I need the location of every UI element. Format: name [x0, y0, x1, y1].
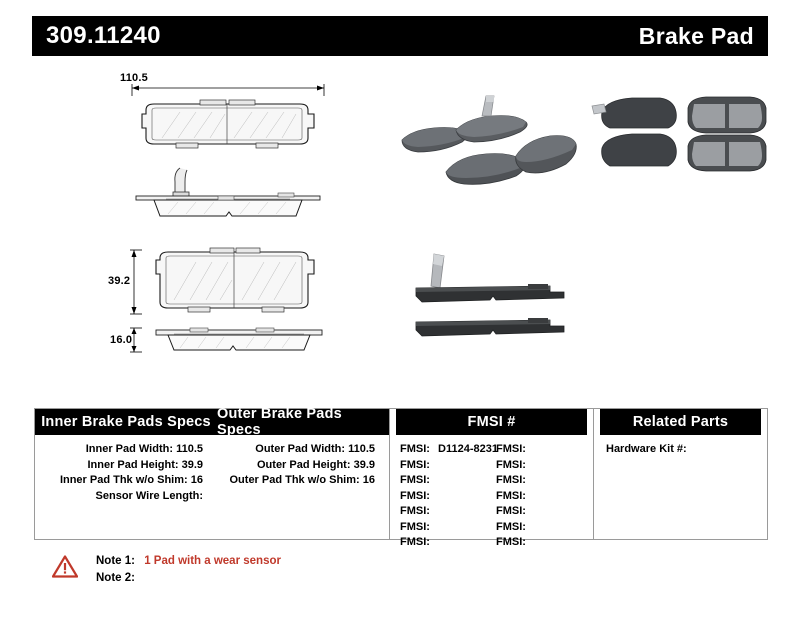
spec-label: Sensor Wire Length:	[96, 490, 203, 502]
fmsi-value	[526, 474, 531, 486]
fmsi-value: D1124-8231	[433, 443, 498, 455]
related-part-row: Hardware Kit #:	[606, 442, 767, 458]
spec-row: Outer Pad Height: 39.9	[217, 458, 389, 474]
brake-pad-pair-side-photo	[400, 246, 580, 356]
specifications-table: Inner Brake Pads Specs Inner Pad Width: …	[34, 408, 768, 540]
column-header-outer-specs: Outer Brake Pads Specs	[217, 409, 389, 435]
product-type-label: Brake Pad	[639, 23, 754, 50]
fmsi-row: FMSI:	[496, 504, 592, 520]
fmsi-value	[526, 521, 531, 533]
fmsi-value	[430, 505, 435, 517]
fmsi-row: FMSI:	[400, 458, 496, 474]
fmsi-row: FMSI:	[400, 504, 496, 520]
note-row: Note 1: 1 Pad with a wear sensor	[96, 553, 472, 570]
outer-specs-body: Outer Pad Width: 110.5 Outer Pad Height:…	[217, 435, 389, 489]
note-text	[135, 572, 141, 584]
fmsi-value	[526, 536, 531, 548]
fmsi-row: FMSI:	[496, 520, 592, 536]
brake-pad-face-view-drawing	[128, 80, 328, 160]
fmsi-label: FMSI:	[400, 474, 430, 486]
fmsi-value	[526, 459, 531, 471]
dimension-label-height: 39.2	[108, 275, 130, 287]
spec-value: 110.5	[348, 443, 375, 455]
note-row: Note 2:	[96, 570, 472, 587]
fmsi-label: FMSI:	[496, 490, 526, 502]
fmsi-row: FMSI:	[400, 489, 496, 505]
fmsi-value	[526, 443, 531, 455]
spec-value: 16	[363, 474, 375, 486]
spec-value: 16	[191, 474, 203, 486]
fmsi-sub-column-left: FMSI: D1124-8231 FMSI: FMSI: FMSI: FMSI:	[400, 442, 496, 551]
column-outer-specs: Outer Brake Pads Specs Outer Pad Width: …	[217, 409, 389, 539]
column-fmsi: FMSI # FMSI: D1124-8231 FMSI: FMSI: FMSI…	[389, 409, 593, 539]
spec-row: Inner Pad Width: 110.5	[35, 442, 217, 458]
fmsi-row: FMSI:	[496, 489, 592, 505]
spec-value: 39.9	[354, 459, 375, 471]
spec-label: Outer Pad Width:	[255, 443, 345, 455]
fmsi-row: FMSI:	[496, 442, 592, 458]
fmsi-row: FMSI:	[400, 520, 496, 536]
spec-row: Outer Pad Thk w/o Shim: 16	[217, 473, 389, 489]
inner-specs-body: Inner Pad Width: 110.5 Inner Pad Height:…	[35, 435, 217, 504]
fmsi-label: FMSI:	[400, 505, 430, 517]
fmsi-label: FMSI:	[496, 536, 526, 548]
related-parts-body: Hardware Kit #:	[594, 435, 767, 458]
brake-pad-set-top-photo	[584, 90, 774, 190]
spec-row: Inner Pad Height: 39.9	[35, 458, 217, 474]
brake-pad-side-view-with-sensor-drawing	[128, 166, 328, 222]
fmsi-row: FMSI:	[496, 535, 592, 551]
fmsi-row: FMSI:	[496, 458, 592, 474]
fmsi-value	[430, 521, 435, 533]
figures-region: 110.5 39.2 16.0	[32, 62, 768, 392]
spec-label: Inner Pad Thk w/o Shim:	[60, 474, 188, 486]
brake-pad-edge-view-drawing	[128, 320, 328, 360]
column-header-inner-specs: Inner Brake Pads Specs	[35, 409, 217, 435]
column-related-parts: Related Parts Hardware Kit #:	[593, 409, 767, 539]
brake-pad-set-angled-photo	[390, 92, 580, 188]
spec-label: Inner Pad Width:	[86, 443, 173, 455]
spec-label: Outer Pad Thk w/o Shim:	[230, 474, 360, 486]
related-part-label: Hardware Kit #:	[606, 443, 687, 455]
column-inner-specs: Inner Brake Pads Specs Inner Pad Width: …	[35, 409, 217, 539]
spec-value: 39.9	[182, 459, 203, 471]
fmsi-label: FMSI:	[496, 443, 526, 455]
spec-row: Inner Pad Thk w/o Shim: 16	[35, 473, 217, 489]
fmsi-value	[430, 474, 435, 486]
fmsi-value	[430, 536, 435, 548]
spec-label: Outer Pad Height:	[257, 459, 351, 471]
fmsi-value	[526, 490, 531, 502]
note-label: Note 2:	[96, 572, 135, 584]
fmsi-label: FMSI:	[400, 521, 430, 533]
column-header-related-parts: Related Parts	[600, 409, 761, 435]
notes-section: Note 1: 1 Pad with a wear sensor Note 2:	[52, 553, 472, 587]
note-rows: Note 1: 1 Pad with a wear sensor Note 2:	[96, 553, 472, 587]
fmsi-label: FMSI:	[400, 536, 430, 548]
fmsi-label: FMSI:	[400, 490, 430, 502]
fmsi-label: FMSI:	[400, 443, 430, 455]
spec-label: Inner Pad Height:	[87, 459, 178, 471]
column-header-fmsi: FMSI #	[396, 409, 587, 435]
fmsi-row: FMSI:	[400, 473, 496, 489]
brake-pad-face-view-drawing-2	[128, 244, 328, 324]
fmsi-label: FMSI:	[496, 474, 526, 486]
spec-row: Sensor Wire Length:	[35, 489, 217, 505]
spec-value: 110.5	[176, 443, 203, 455]
fmsi-sub-column-right: FMSI: FMSI: FMSI: FMSI: FMSI:	[496, 442, 592, 551]
fmsi-value	[430, 459, 435, 471]
note-text: 1 Pad with a wear sensor	[138, 555, 281, 567]
fmsi-label: FMSI:	[496, 505, 526, 517]
part-number: 309.11240	[46, 22, 161, 50]
warning-triangle-icon	[52, 555, 78, 578]
fmsi-row: FMSI:	[496, 473, 592, 489]
header-bar: 309.11240 Brake Pad	[32, 16, 768, 56]
fmsi-value	[430, 490, 435, 502]
fmsi-label: FMSI:	[496, 459, 526, 471]
fmsi-row: FMSI:	[400, 535, 496, 551]
fmsi-label: FMSI:	[400, 459, 430, 471]
fmsi-value	[526, 505, 531, 517]
note-label: Note 1:	[96, 555, 135, 567]
fmsi-body: FMSI: D1124-8231 FMSI: FMSI: FMSI: FMSI:	[390, 435, 593, 551]
fmsi-row: FMSI: D1124-8231	[400, 442, 496, 458]
fmsi-label: FMSI:	[496, 521, 526, 533]
spec-row: Outer Pad Width: 110.5	[217, 442, 389, 458]
